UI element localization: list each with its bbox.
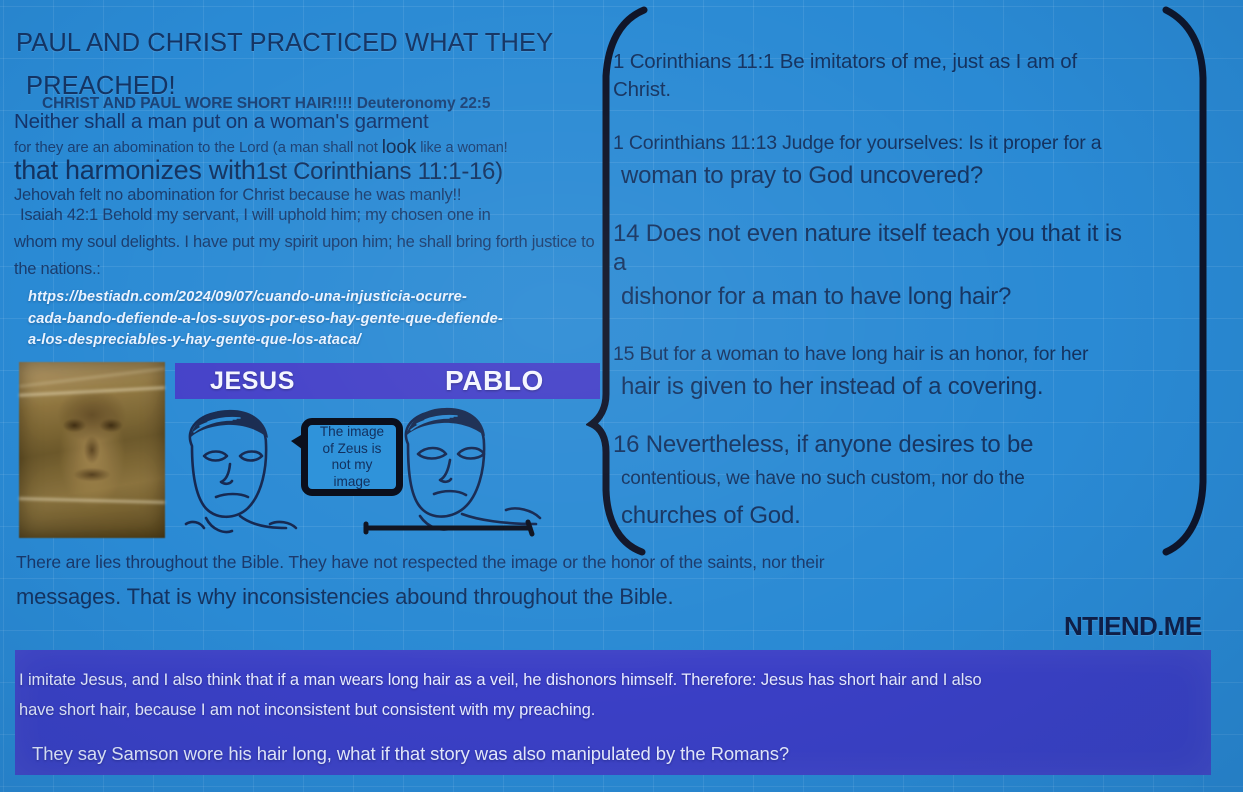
right-curly-bracket-icon — [1156, 4, 1226, 556]
watermark-ntiend-me: NTIEND.ME — [1064, 611, 1202, 642]
harmonizes-text-c: Corinthians 11:1-16) — [293, 158, 503, 185]
verse-1cor-11-13-line2: woman to pray to God uncovered? — [613, 157, 1138, 194]
footer-line1: I imitate Jesus, and I also think that i… — [19, 665, 1179, 695]
label-jesus: JESUS — [175, 363, 428, 399]
verse-1cor-11-15-line1: 15 But for a woman to have long hair is … — [613, 343, 1088, 365]
infographic-canvas: PAUL AND CHRIST PRACTICED WHAT THEY PREA… — [0, 0, 1243, 792]
deuteronomy-quote-line: Neither shall a man put on a woman's gar… — [14, 110, 574, 134]
footer-banner-text: I imitate Jesus, and I also think that i… — [19, 665, 1179, 769]
speech-bubble-line3: not my — [318, 457, 386, 474]
shroud-crease-icon — [19, 497, 165, 504]
bible-verses-panel: 1 Corinthians 11:1 Be imitators of me, j… — [613, 48, 1138, 534]
pablo-face-drawing — [406, 408, 540, 530]
speech-bubble-line1: The image — [318, 424, 386, 441]
verse-block: 1 Corinthians 11:13 Judge for yourselves… — [613, 130, 1138, 194]
label-pablo-text: PABLO — [445, 365, 544, 397]
closing-line1: There are lies throughout the Bible. The… — [16, 552, 1146, 573]
verse-1cor-11-1: 1 Corinthians 11:1 Be imitators of me, j… — [613, 50, 1077, 101]
closing-line2: messages. That is why inconsistencies ab… — [16, 584, 1146, 610]
shroud-crease-icon — [19, 386, 165, 397]
label-jesus-text: JESUS — [210, 367, 295, 396]
source-url-line1: https://bestiadn.com/2024/09/07/cuando-u… — [28, 287, 588, 309]
isaiah-line2: whom my soul delights. I have put my spi… — [14, 233, 527, 251]
source-url-line2: cada-bando-defiende-a-los-suyos-por-eso-… — [28, 309, 588, 331]
footer-line3: They say Samson wore his hair long, what… — [19, 739, 1179, 769]
verse-block: 15 But for a woman to have long hair is … — [613, 341, 1138, 405]
shroud-of-turin-image — [19, 362, 165, 538]
source-url-line3: a-los-despreciables-y-hay-gente-que-los-… — [28, 330, 588, 352]
abomination-text-a: for they are an abomination to the Lord … — [14, 139, 378, 156]
shroud-crease-icon — [19, 367, 164, 388]
verse-1cor-11-16-line2: contentious, we have no such custom, nor… — [613, 460, 1138, 497]
verse-block: 1 Corinthians 11:1 Be imitators of me, j… — [613, 48, 1138, 104]
speech-bubble: The image of Zeus is not my image — [301, 418, 403, 496]
verse-1cor-11-16-line1: 16 Nevertheless, if anyone desires to be — [613, 431, 1033, 458]
page-title-line1: PAUL AND CHRIST PRACTICED WHAT THEY — [16, 29, 553, 57]
verse-1cor-11-15-line2: hair is given to her instead of a coveri… — [613, 368, 1138, 405]
abomination-text-b: like a woman! — [420, 140, 507, 156]
jesus-face-drawing — [186, 410, 296, 532]
speech-bubble-line4: image — [318, 474, 386, 491]
closing-paragraph: There are lies throughout the Bible. The… — [16, 552, 1146, 610]
isaiah-quote: Isaiah 42:1 Behold my servant, I will up… — [14, 202, 610, 283]
harmonizes-text-a: that harmonizes with — [14, 155, 256, 185]
harmonizes-ordinal: 1st — [256, 158, 287, 185]
verse-1cor-11-13-line1: 1 Corinthians 11:13 Judge for yourselves… — [613, 132, 1101, 154]
footer-line2: have short hair, because I am not incons… — [19, 695, 1179, 725]
speech-bubble-line2: of Zeus is — [318, 441, 386, 458]
harmonizes-line: that harmonizes with1st Corinthians 11:1… — [14, 155, 614, 186]
isaiah-line1: Isaiah 42:1 Behold my servant, I will up… — [14, 202, 610, 229]
verse-1cor-11-16-line3: churches of God. — [613, 497, 1138, 534]
source-url-link[interactable]: https://bestiadn.com/2024/09/07/cuando-u… — [28, 287, 588, 352]
verse-1cor-11-14-line1: 14 Does not even nature itself teach you… — [613, 220, 1122, 276]
label-pablo: PABLO — [425, 363, 600, 399]
verse-block: 16 Nevertheless, if anyone desires to be… — [613, 431, 1138, 534]
verse-block: 14 Does not even nature itself teach you… — [613, 220, 1138, 315]
verse-1cor-11-14-line2: dishonor for a man to have long hair? — [613, 278, 1138, 315]
